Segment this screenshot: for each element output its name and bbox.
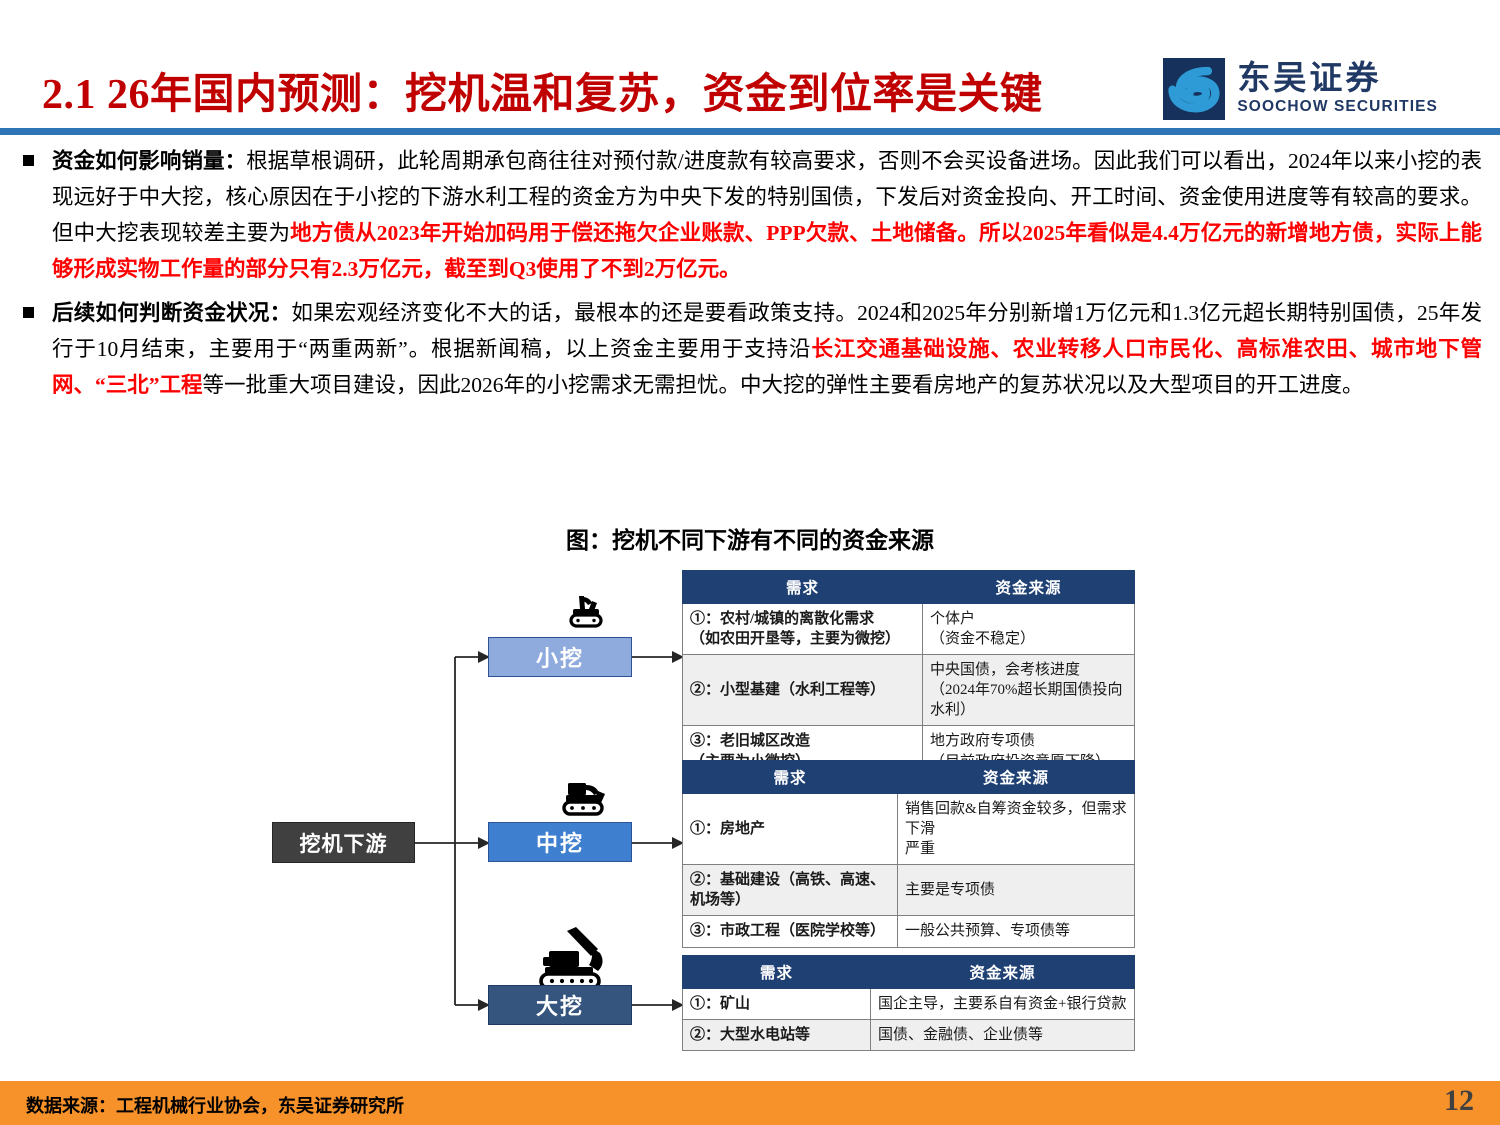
- cell-source: 一般公共预算、专项债等: [898, 916, 1135, 947]
- medium-excavator-icon: [560, 775, 616, 826]
- cell-demand: ②：大型水电站等: [683, 1020, 871, 1051]
- bullet-paragraph-1: 资金如何影响销量：根据草根调研，此轮周期承包商往往对预付款/进度款有较高要求，否…: [0, 143, 1500, 287]
- cell-source: 中央国债，会考核进度（2024年70%超长期国债投向水利）: [923, 655, 1135, 726]
- cell-demand: ③：市政工程（医院学校等）: [683, 916, 898, 947]
- cell-demand: ①：农村/城镇的离散化需求（如农田开垦等，主要为微挖）: [683, 604, 923, 655]
- flow-node-large-excavator[interactable]: 大挖: [488, 985, 632, 1025]
- funding-table-large-excavator: 需求 资金来源 ①：矿山 国企主导，主要系自有资金+银行贷款 ②：大型水电站等 …: [682, 955, 1135, 1051]
- p1-lead: 资金如何影响销量：: [52, 149, 246, 173]
- cell-source: 个体户（资金不稳定）: [923, 604, 1135, 655]
- table-row: ②：大型水电站等 国债、金融债、企业债等: [683, 1020, 1135, 1051]
- table-header-row: 需求 资金来源: [683, 571, 1135, 604]
- table-header-row: 需求 资金来源: [683, 761, 1135, 794]
- header-divider: [0, 128, 1500, 135]
- table-row: ①：农村/城镇的离散化需求（如农田开垦等，主要为微挖） 个体户（资金不稳定）: [683, 604, 1135, 655]
- cell-demand: ②：小型基建（水利工程等）: [683, 655, 923, 726]
- paragraph-1-text: 资金如何影响销量：根据草根调研，此轮周期承包商往往对预付款/进度款有较高要求，否…: [52, 143, 1500, 287]
- cell-source: 销售回款&自筹资金较多，但需求下滑严重: [898, 794, 1135, 865]
- cell-source: 主要是专项债: [898, 865, 1135, 916]
- cell-demand: ①：房地产: [683, 794, 898, 865]
- th-source: 资金来源: [871, 956, 1135, 989]
- slide-page: 2.1 26年国内预测：挖机温和复苏，资金到位率是关键 东吴证券 SOOCHOW…: [0, 0, 1500, 1125]
- slide-header: 2.1 26年国内预测：挖机温和复苏，资金到位率是关键 东吴证券 SOOCHOW…: [0, 0, 1500, 128]
- flow-node-source[interactable]: 挖机下游: [272, 822, 415, 863]
- figure-title: 图：挖机不同下游有不同的资金来源: [0, 521, 1500, 555]
- funding-table-small-excavator: 需求 资金来源 ①：农村/城镇的离散化需求（如农田开垦等，主要为微挖） 个体户（…: [682, 570, 1135, 778]
- footer-source-text: 数据来源：工程机械行业协会，东吴证券研究所: [26, 1092, 404, 1118]
- footer-bar: 数据来源：工程机械行业协会，东吴证券研究所 12: [0, 1081, 1500, 1125]
- mini-excavator-icon: [563, 592, 611, 637]
- table-row: ①：房地产 销售回款&自筹资金较多，但需求下滑严重: [683, 794, 1135, 865]
- table-row: ③：市政工程（医院学校等） 一般公共预算、专项债等: [683, 916, 1135, 947]
- cell-demand: ②：基础建设（高铁、高速、机场等）: [683, 865, 898, 916]
- cell-demand: ①：矿山: [683, 989, 871, 1020]
- table-header-row: 需求 资金来源: [683, 956, 1135, 989]
- page-number: 12: [1444, 1084, 1474, 1118]
- logo-name-en: SOOCHOW SECURITIES: [1237, 98, 1438, 116]
- th-source: 资金来源: [898, 761, 1135, 794]
- funding-table-medium-excavator: 需求 资金来源 ①：房地产 销售回款&自筹资金较多，但需求下滑严重 ②：基础建设…: [682, 760, 1135, 948]
- brand-logo: 东吴证券 SOOCHOW SECURITIES: [1163, 58, 1438, 120]
- table-row: ②：基础建设（高铁、高速、机场等） 主要是专项债: [683, 865, 1135, 916]
- bullet-square-icon: [23, 307, 34, 318]
- th-source: 资金来源: [923, 571, 1135, 604]
- bullet-paragraph-2: 后续如何判断资金状况：如果宏观经济变化不大的话，最根本的还是要看政策支持。202…: [0, 295, 1500, 403]
- body-content: 资金如何影响销量：根据草根调研，此轮周期承包商往往对预付款/进度款有较高要求，否…: [0, 143, 1500, 407]
- flow-node-small-excavator[interactable]: 小挖: [488, 637, 632, 677]
- bullet-square-icon: [23, 155, 34, 166]
- flow-node-medium-excavator[interactable]: 中挖: [488, 822, 632, 862]
- th-demand: 需求: [683, 761, 898, 794]
- page-title: 2.1 26年国内预测：挖机温和复苏，资金到位率是关键: [42, 60, 1043, 121]
- p2-lead: 后续如何判断资金状况：: [52, 301, 291, 325]
- table-row: ②：小型基建（水利工程等） 中央国债，会考核进度（2024年70%超长期国债投向…: [683, 655, 1135, 726]
- table-row: ①：矿山 国企主导，主要系自有资金+银行贷款: [683, 989, 1135, 1020]
- paragraph-2-text: 后续如何判断资金状况：如果宏观经济变化不大的话，最根本的还是要看政策支持。202…: [52, 295, 1500, 403]
- cell-source: 国债、金融债、企业债等: [871, 1020, 1135, 1051]
- logo-name-cn: 东吴证券: [1237, 62, 1381, 97]
- p2-seg-normal-b: 等一批重大项目建设，因此2026年的小挖需求无需担忧。中大挖的弹性主要看房地产的…: [203, 373, 1364, 397]
- th-demand: 需求: [683, 571, 923, 604]
- th-demand: 需求: [683, 956, 871, 989]
- cell-source: 国企主导，主要系自有资金+银行贷款: [871, 989, 1135, 1020]
- soochow-logo-icon: [1163, 58, 1225, 120]
